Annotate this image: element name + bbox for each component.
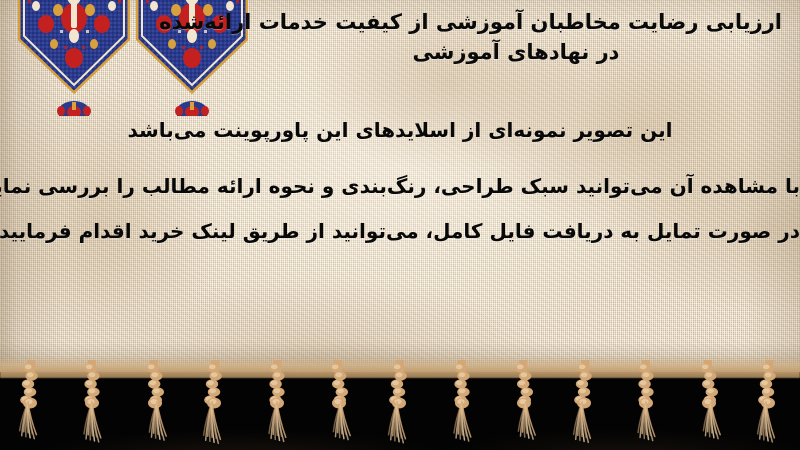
carpet-fringe-tassel	[756, 360, 782, 448]
persian-carpet-medallion-icon	[14, 0, 134, 116]
carpet-fringe-tassel	[449, 360, 475, 448]
carpet-fringe-tassel	[387, 360, 413, 448]
presentation-slide: ارزیابی رضایت مخاطبان آموزشی از کیفیت خد…	[0, 0, 800, 450]
carpet-fringe-tassel	[202, 360, 228, 448]
carpet-fringe-tassel	[18, 360, 44, 448]
body-line-2: با مشاهده آن می‌توانید سبک طراحی، رنگ‌بن…	[0, 164, 800, 210]
carpet-fringe-tassel	[79, 360, 105, 448]
slide-title: ارزیابی رضایت مخاطبان آموزشی از کیفیت خد…	[250, 8, 782, 68]
carpet-fringe-tassel	[325, 360, 351, 448]
carpet-fringe	[0, 360, 800, 450]
body-line-1: این تصویر نمونه‌ای از اسلایدهای این پاور…	[0, 108, 800, 154]
carpet-fringe-tassel	[264, 360, 290, 448]
carpet-fringe-tassel	[633, 360, 659, 448]
carpet-fringe-tassel	[572, 360, 598, 448]
carpet-fringe-tassel	[141, 360, 167, 448]
slide-body: این تصویر نمونه‌ای از اسلایدهای این پاور…	[0, 108, 800, 255]
slide-title-line-1: ارزیابی رضایت مخاطبان آموزشی از کیفیت خد…	[250, 8, 782, 38]
carpet-fringe-tassel	[695, 360, 721, 448]
carpet-fringe-tassel	[510, 360, 536, 448]
slide-title-line-2: در نهادهای آموزشی	[250, 38, 782, 68]
body-line-3: در صورت تمایل به دریافت فایل کامل، می‌تو…	[0, 209, 800, 255]
